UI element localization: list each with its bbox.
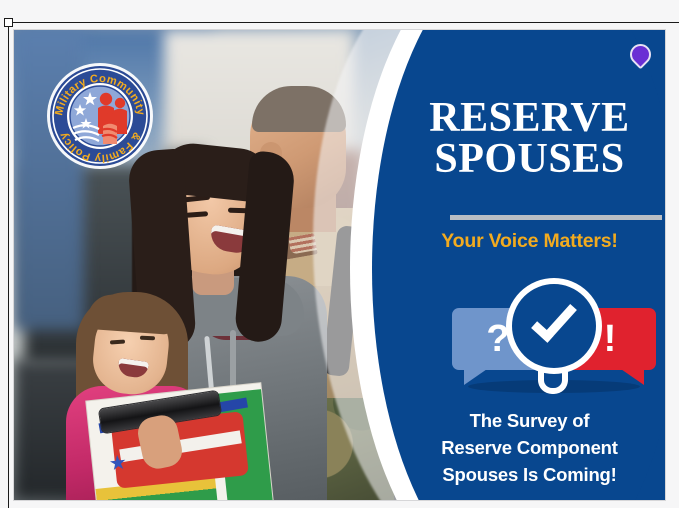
poster-star-icon: ★ [108, 454, 128, 474]
subhead-line-1: The Survey of [400, 408, 659, 435]
headline-line-1: RESERVE [429, 95, 629, 141]
selection-handle[interactable] [4, 18, 13, 27]
subhead-line-2: Reserve Component [400, 435, 659, 462]
military-community-family-policy-seal: Military Community & Family Policy [46, 62, 154, 170]
promotional-graphic-card: ★ RESERVE SPOUSES Your Voice Matters! ? [14, 30, 665, 500]
subhead-line-3: Spouses Is Coming! [400, 462, 659, 489]
seal-svg: Military Community & Family Policy [46, 62, 154, 170]
page-background: ★ RESERVE SPOUSES Your Voice Matters! ? [0, 0, 679, 508]
headline-line-2: SPOUSES [400, 139, 659, 180]
subheading: The Survey of Reserve Component Spouses … [400, 408, 659, 488]
tagline: Your Voice Matters! [400, 230, 659, 253]
pointer-marker-icon[interactable] [626, 40, 656, 70]
title-divider-rule [450, 215, 662, 220]
page-title: RESERVE SPOUSES [400, 98, 659, 180]
girl-eye-right [140, 336, 155, 341]
bubble-tail-mask [544, 352, 562, 364]
speech-bubbles-graphic: ? ! [444, 278, 664, 396]
blue-content-panel: RESERVE SPOUSES Your Voice Matters! ? ! [400, 30, 665, 500]
